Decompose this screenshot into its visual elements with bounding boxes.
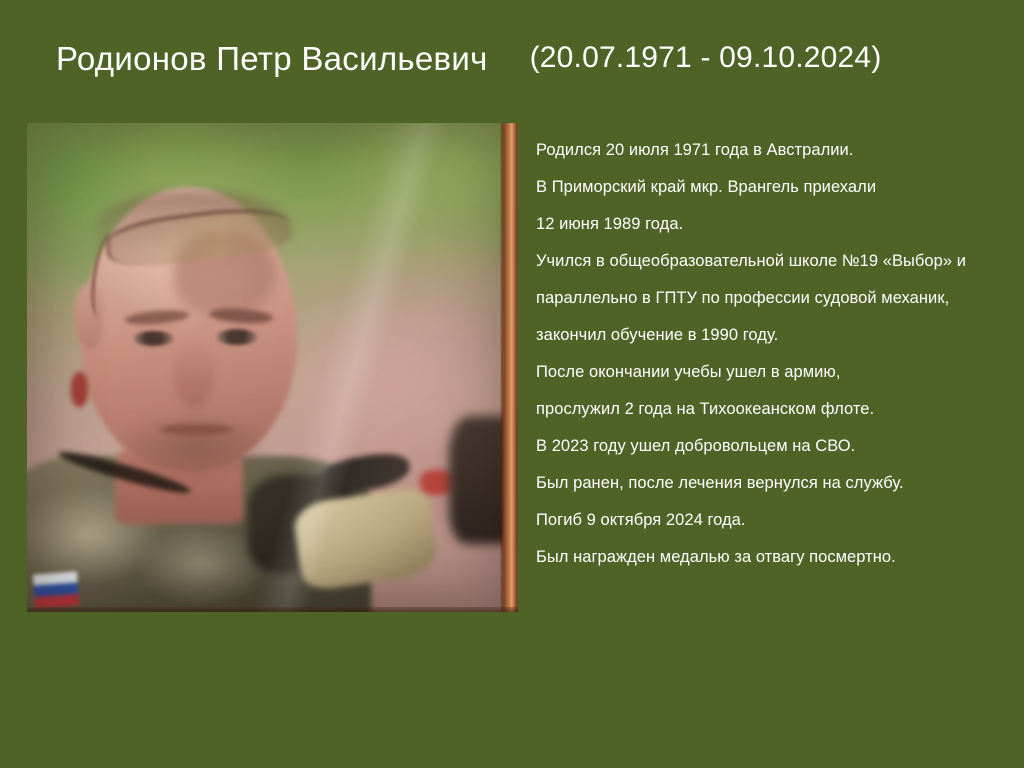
bio-line: Родился 20 июля 1971 года в Австралии. — [536, 132, 1000, 169]
life-dates: (20.07.1971 - 09.10.2024) — [530, 43, 882, 73]
portrait-photo — [27, 123, 518, 612]
biography-text: Родился 20 июля 1971 года в Австралии. В… — [536, 132, 1000, 576]
photo-vignette — [27, 123, 518, 612]
bio-line: прослужил 2 года на Тихоокеанском флоте. — [536, 391, 1000, 428]
bio-line: Погиб 9 октября 2024 года. — [536, 502, 1000, 539]
photo-frame-edge-right — [501, 123, 518, 612]
bio-line: Был награжден медалью за отвагу посмертн… — [536, 539, 1000, 576]
bio-line: 12 июня 1989 года. — [536, 206, 1000, 243]
slide-header: Родионов Петр Васильевич (20.07.1971 - 0… — [0, 28, 1024, 88]
bio-line: После окончании учебы ушел в армию, — [536, 354, 1000, 391]
bio-line: Учился в общеобразовательной школе №19 «… — [536, 243, 1000, 280]
page-title: Родионов Петр Васильевич — [56, 42, 488, 75]
bio-line: В 2023 году ушел добровольцем на СВО. — [536, 428, 1000, 465]
photo-frame-edge-bottom — [27, 607, 518, 612]
photo-image — [27, 123, 518, 612]
bio-line: закончил обучение в 1990 году. — [536, 317, 1000, 354]
bio-line: Был ранен, после лечения вернулся на слу… — [536, 465, 1000, 502]
bio-line: В Приморский край мкр. Врангель приехали — [536, 169, 1000, 206]
memorial-slide: Родионов Петр Васильевич (20.07.1971 - 0… — [0, 0, 1024, 768]
bio-line: параллельно в ГПТУ по профессии судовой … — [536, 280, 1000, 317]
